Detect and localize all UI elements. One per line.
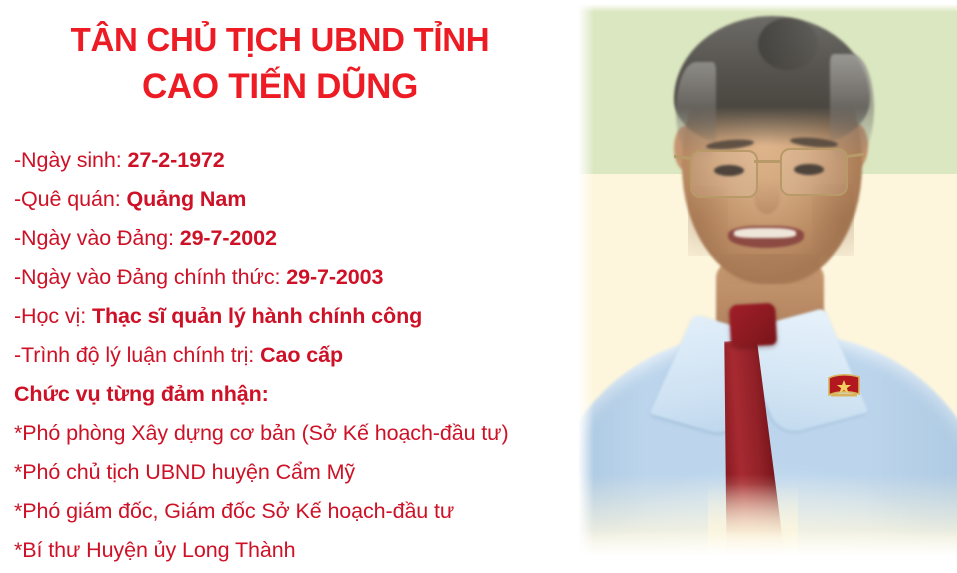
hair-parting	[758, 18, 818, 70]
eyeglasses-bridge	[754, 160, 780, 163]
infographic-card: TÂN CHỦ TỊCH UBND TỈNH CAO TIẾN DŨNG -Ng…	[0, 0, 957, 573]
position-item: *Phó chủ tịch UBND huyện Cẩm Mỹ	[14, 453, 580, 492]
bio-label: -Ngày vào Đảng:	[14, 226, 180, 250]
bio-value: 27-2-1972	[128, 148, 225, 172]
bio-label: -Ngày vào Đảng chính thức:	[14, 265, 286, 289]
position-item: *Phó giám đốc, Giám đốc Sở Kế hoạch-đầu …	[14, 492, 580, 531]
photo-edge-fade-left	[578, 4, 594, 556]
text-panel: TÂN CHỦ TỊCH UBND TỈNH CAO TIẾN DŨNG -Ng…	[0, 0, 580, 573]
bio-value: 29-7-2003	[286, 265, 383, 289]
page-title: TÂN CHỦ TỊCH UBND TỈNH CAO TIẾN DŨNG	[0, 16, 560, 110]
bio-label: -Ngày sinh:	[14, 148, 128, 172]
biography-list: -Ngày sinh: 27-2-1972-Quê quán: Quảng Na…	[14, 141, 580, 570]
bio-value: Quảng Nam	[126, 187, 246, 211]
bio-value: Thạc sĩ quản lý hành chính công	[92, 304, 422, 328]
position-item: *Phó phòng Xây dựng cơ bản (Sở Kế hoạch-…	[14, 414, 580, 453]
bio-label: -Học vị:	[14, 304, 92, 328]
bio-row: -Ngày sinh: 27-2-1972	[14, 141, 580, 180]
eyeglasses-lens-right	[780, 148, 848, 196]
bio-row: -Học vị: Thạc sĩ quản lý hành chính công	[14, 297, 580, 336]
vietnam-flag-pin-icon	[825, 372, 863, 402]
bio-row: -Trình độ lý luận chính trị: Cao cấp	[14, 336, 580, 375]
position-item: *Bí thư Huyện ủy Long Thành	[14, 531, 580, 570]
positions-heading: Chức vụ từng đảm nhận:	[14, 375, 580, 414]
chin-shading	[720, 254, 820, 284]
portrait-photo	[578, 4, 957, 556]
bio-row: -Ngày vào Đảng chính thức: 29-7-2003	[14, 258, 580, 297]
bio-label: -Quê quán:	[14, 187, 126, 211]
bio-row: -Quê quán: Quảng Nam	[14, 180, 580, 219]
bio-value: Cao cấp	[260, 343, 343, 367]
bio-value: 29-7-2002	[180, 226, 277, 250]
photo-edge-fade-top	[578, 4, 957, 12]
title-line-1: TÂN CHỦ TỊCH UBND TỈNH	[0, 16, 560, 63]
bio-row: -Ngày vào Đảng: 29-7-2002	[14, 219, 580, 258]
teeth	[734, 228, 796, 238]
eyeglasses-lens-left	[690, 150, 758, 198]
photo-edge-fade-bottom	[578, 530, 957, 556]
necktie-knot	[729, 303, 777, 347]
title-line-2: CAO TIẾN DŨNG	[0, 63, 560, 110]
bio-label: -Trình độ lý luận chính trị:	[14, 343, 260, 367]
